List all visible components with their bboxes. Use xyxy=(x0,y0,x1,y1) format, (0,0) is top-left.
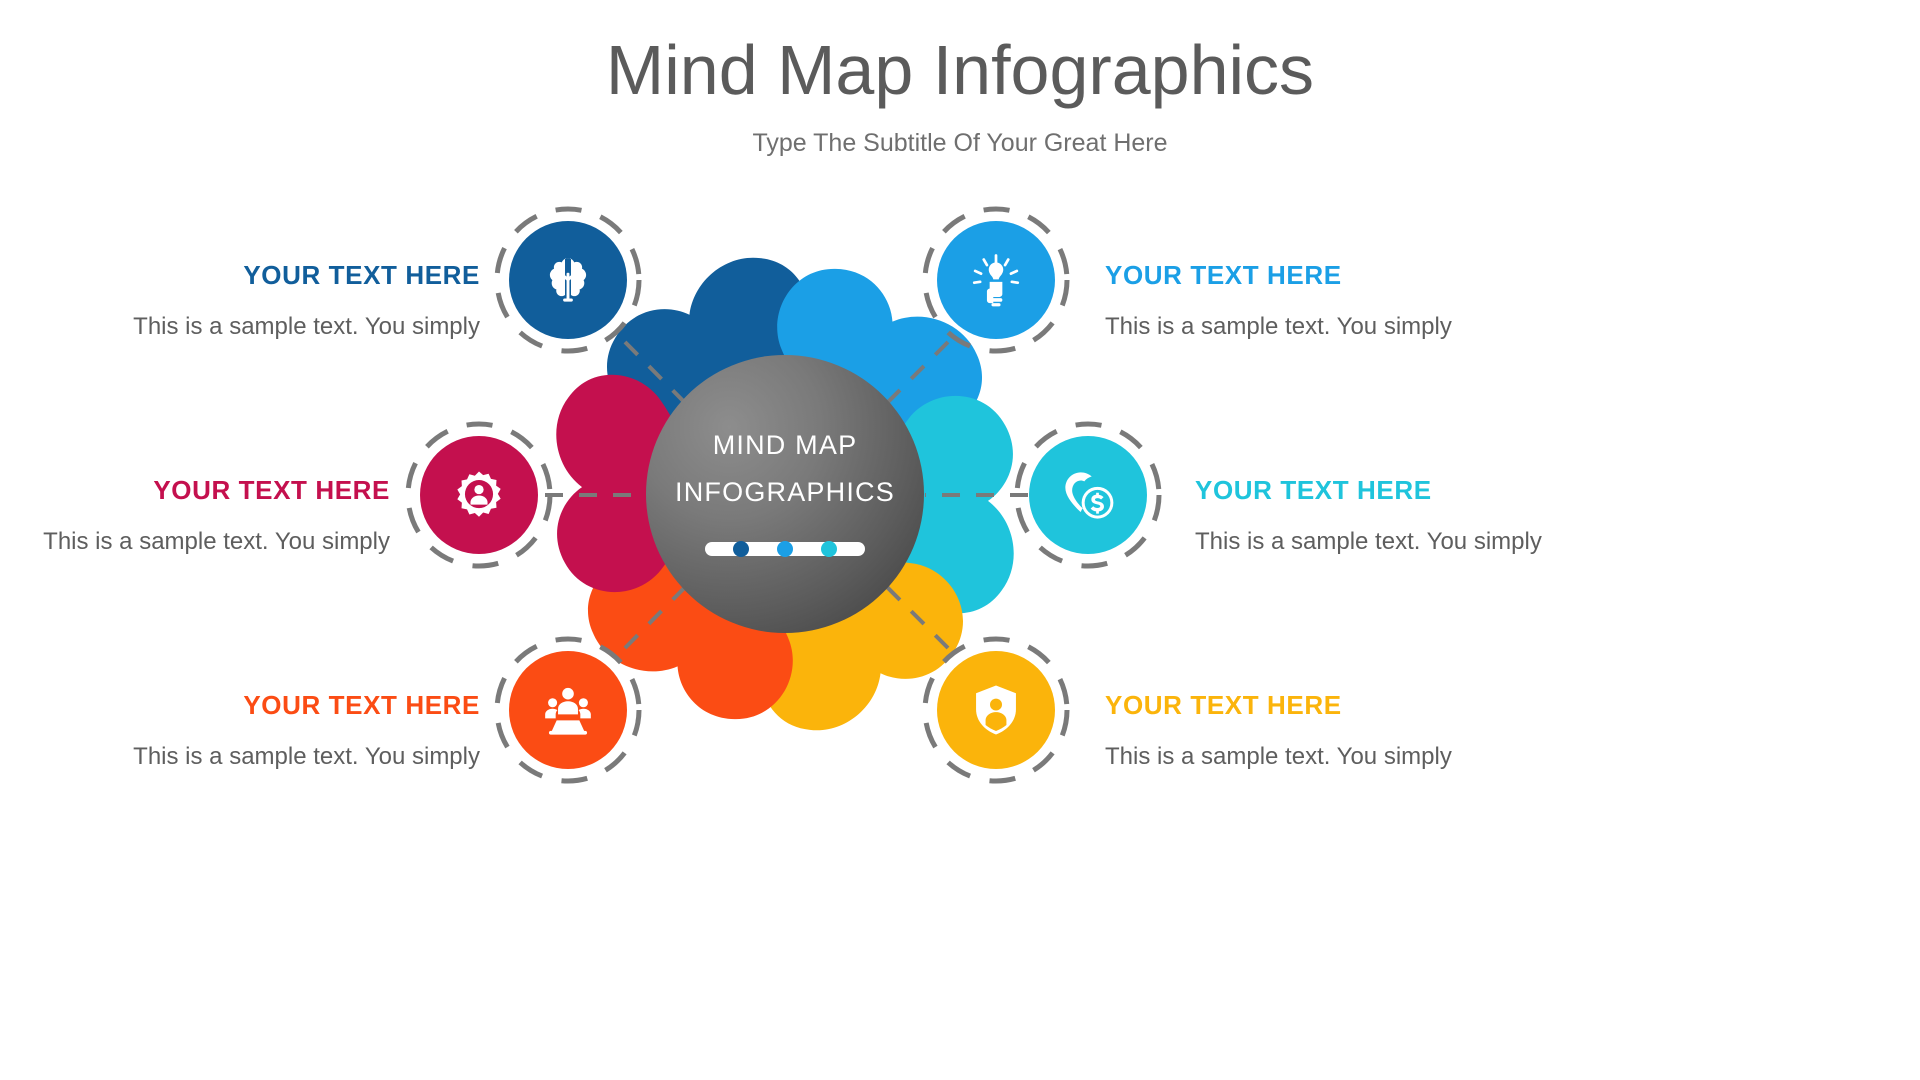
money-location-pin-icon xyxy=(1059,466,1117,524)
progress-dot-3[interactable] xyxy=(821,541,837,557)
node-desc-bottom-right: This is a sample text. You simply xyxy=(1105,721,1535,772)
page-title: Mind Map Infographics xyxy=(0,0,1920,109)
node-bottom-left[interactable] xyxy=(509,651,627,769)
node-title-bottom-right: YOUR TEXT HERE xyxy=(1105,690,1535,721)
center-progress-bar[interactable] xyxy=(705,542,865,556)
node-text-middle-right: YOUR TEXT HERE This is a sample text. Yo… xyxy=(1195,475,1625,557)
node-text-bottom-left: YOUR TEXT HERE This is a sample text. Yo… xyxy=(50,690,480,772)
node-top-left[interactable] xyxy=(509,221,627,339)
center-title-line-2: INFOGRAPHICS xyxy=(675,479,895,506)
node-text-top-right: YOUR TEXT HERE This is a sample text. Yo… xyxy=(1105,260,1535,342)
node-desc-middle-right: This is a sample text. You simply xyxy=(1195,506,1625,557)
node-text-top-left: YOUR TEXT HERE This is a sample text. Yo… xyxy=(50,260,480,342)
node-middle-right[interactable] xyxy=(1029,436,1147,554)
shield-user-icon xyxy=(967,681,1025,739)
gear-user-icon xyxy=(450,466,508,524)
node-title-bottom-left: YOUR TEXT HERE xyxy=(50,690,480,721)
node-middle-left[interactable] xyxy=(420,436,538,554)
node-text-bottom-right: YOUR TEXT HERE This is a sample text. Yo… xyxy=(1105,690,1535,772)
mind-map-diagram: MIND MAP INFOGRAPHICS YOUR TEXT HERE Thi… xyxy=(0,150,1920,980)
node-desc-top-left: This is a sample text. You simply xyxy=(50,291,480,342)
node-top-right[interactable] xyxy=(937,221,1055,339)
node-title-middle-left: YOUR TEXT HERE xyxy=(0,475,390,506)
idea-bulb-hand-icon xyxy=(967,251,1025,309)
node-desc-top-right: This is a sample text. You simply xyxy=(1105,291,1535,342)
brain-icon xyxy=(539,251,597,309)
progress-dot-2[interactable] xyxy=(777,541,793,557)
center-title-line-1: MIND MAP xyxy=(713,432,858,459)
node-title-top-left: YOUR TEXT HERE xyxy=(50,260,480,291)
node-desc-middle-left: This is a sample text. You simply xyxy=(0,506,390,557)
node-desc-bottom-left: This is a sample text. You simply xyxy=(50,721,480,772)
presenter-icon xyxy=(539,681,597,739)
node-title-middle-right: YOUR TEXT HERE xyxy=(1195,475,1625,506)
progress-dot-1[interactable] xyxy=(733,541,749,557)
node-bottom-right[interactable] xyxy=(937,651,1055,769)
center-circle[interactable]: MIND MAP INFOGRAPHICS xyxy=(646,355,924,633)
node-text-middle-left: YOUR TEXT HERE This is a sample text. Yo… xyxy=(0,475,390,557)
header: Mind Map Infographics Type The Subtitle … xyxy=(0,0,1920,158)
node-title-top-right: YOUR TEXT HERE xyxy=(1105,260,1535,291)
